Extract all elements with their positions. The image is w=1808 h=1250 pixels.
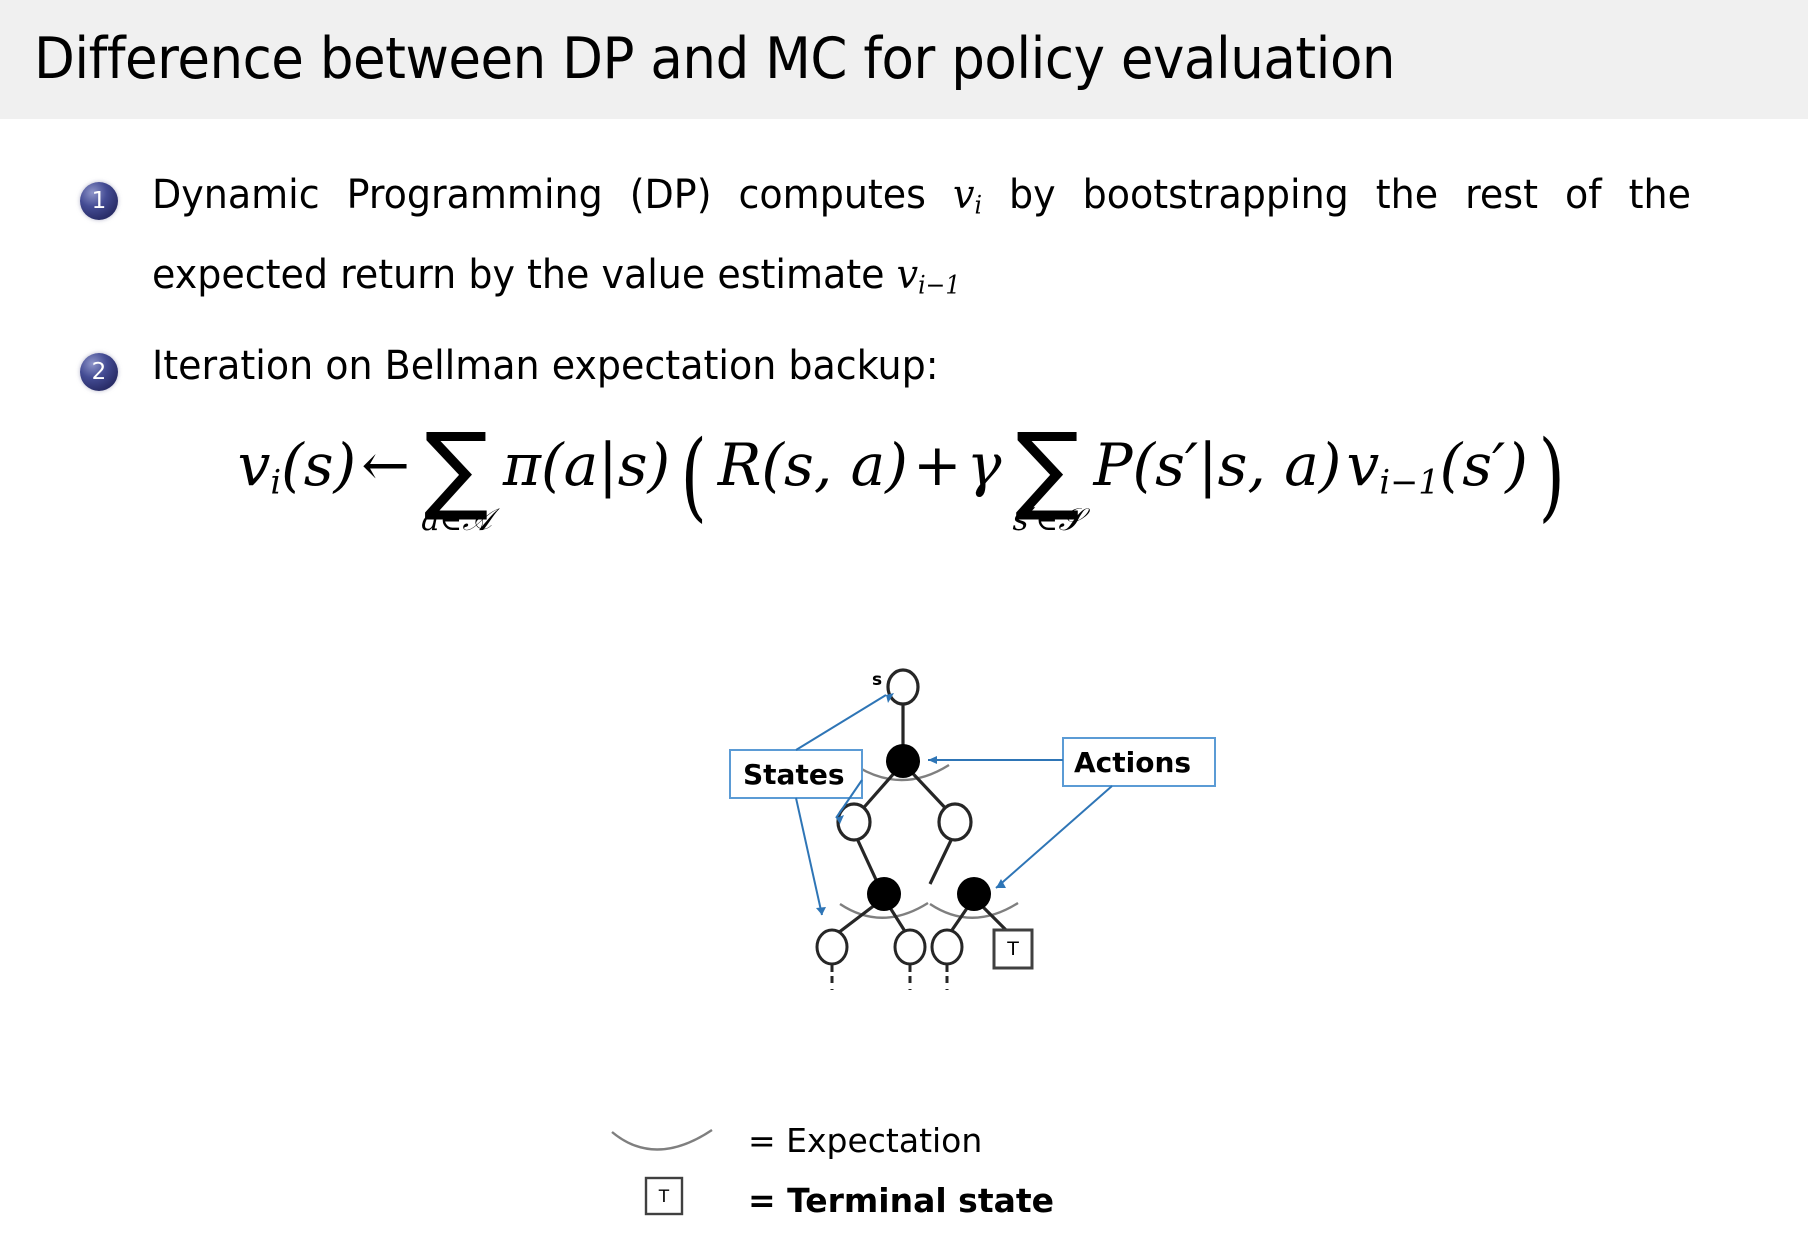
backup-diagram-svg: s	[600, 660, 1220, 990]
legend-expectation-text: = Expectation	[748, 1121, 982, 1160]
formula-arrow: ←	[361, 431, 410, 499]
states-callout-label: States	[743, 758, 845, 791]
states-arrow-to-root	[796, 695, 886, 750]
actions-arrowhead-top	[928, 756, 937, 764]
terminal-state-letter: T	[1006, 938, 1019, 960]
page-title: Difference between DP and MC for policy …	[34, 24, 1395, 94]
states-arrow-to-leaf	[796, 798, 822, 915]
node-action-top	[886, 744, 920, 778]
bullet-1-var-vi-1: vi−1	[897, 252, 961, 298]
formula-value-arg: (s′)	[1440, 431, 1528, 499]
node-leaf-state-3	[932, 930, 962, 964]
formula-plus: +	[913, 431, 962, 499]
list-item: 1 Dynamic Programming (DP) computes vi b…	[0, 160, 1808, 321]
node-action-left	[867, 877, 901, 911]
formula-lhs-v: v	[238, 431, 271, 499]
node-leaf-state-2	[895, 930, 925, 964]
formula-sum-states: ∑ s′∈𝒮	[1012, 425, 1082, 536]
bullet-number-1: 1	[80, 182, 118, 220]
formula-reward: R(s, a)	[718, 431, 908, 499]
bullet-1-var-2-base: v	[897, 252, 918, 298]
bullet-1-segment-1: Dynamic Programming (DP) computes	[152, 172, 953, 218]
states-arrowhead-leaf	[816, 907, 826, 915]
formula-lhs: vi(s)	[238, 431, 357, 499]
node-action-right	[957, 877, 991, 911]
formula-sum2-sign: ∑	[1012, 425, 1082, 511]
legend-svg: = Expectation T = Terminal state	[600, 1120, 1220, 1240]
backup-diagram: s	[600, 660, 1220, 990]
bullet-1-var-1-base: v	[953, 172, 974, 218]
formula-sum-actions: ∑ a∈𝒜	[421, 425, 492, 536]
formula-policy: π(a|s)	[503, 431, 670, 499]
legend-expectation-arc-icon	[612, 1130, 712, 1150]
node-state-right	[939, 804, 971, 840]
bullet-number-2: 2	[80, 353, 118, 391]
root-state-label: s	[872, 670, 882, 690]
bullet-1-var-1-sub: i	[974, 190, 982, 219]
node-leaf-state-1	[817, 930, 847, 964]
formula-lhs-sub: i	[270, 462, 281, 501]
node-root-state	[888, 670, 918, 704]
formula-gamma: γ	[967, 431, 1002, 499]
legend-terminal-letter: T	[658, 1187, 670, 1207]
formula-lhs-arg: (s)	[281, 431, 356, 499]
bullet-1-var-2-sub: i−1	[918, 271, 960, 300]
actions-callout-label: Actions	[1074, 746, 1191, 779]
formula-close-paren: )	[1539, 420, 1565, 532]
formula-sum1-sign: ∑	[421, 425, 492, 511]
formula-open-paren: (	[681, 420, 707, 532]
formula-value-v: v	[1347, 431, 1380, 499]
formula-sum1-subscript: a∈𝒜	[421, 505, 492, 536]
bullet-1-var-vi: vi	[953, 172, 982, 218]
formula-value: vi−1(s′)	[1347, 431, 1528, 499]
formula-transition: P(s′|s, a)	[1093, 431, 1341, 499]
bellman-expectation-formula: vi(s) ← ∑ a∈𝒜 π(a|s) ( R(s, a) + γ ∑ s′∈…	[0, 420, 1808, 536]
bullet-text-1: Dynamic Programming (DP) computes vi by …	[152, 160, 1691, 321]
bullet-text-2: Iteration on Bellman expectation backup:	[152, 331, 1691, 402]
list-item: 2 Iteration on Bellman expectation backu…	[0, 331, 1808, 402]
formula-sum2-subscript: s′∈𝒮	[1012, 505, 1082, 536]
diagram-legend: = Expectation T = Terminal state	[600, 1120, 1220, 1240]
legend-terminal-text: = Terminal state	[748, 1181, 1054, 1220]
formula-value-sub: i−1	[1379, 462, 1439, 501]
actions-arrow-to-right-action	[996, 786, 1112, 888]
bullet-list: 1 Dynamic Programming (DP) computes vi b…	[0, 160, 1808, 412]
